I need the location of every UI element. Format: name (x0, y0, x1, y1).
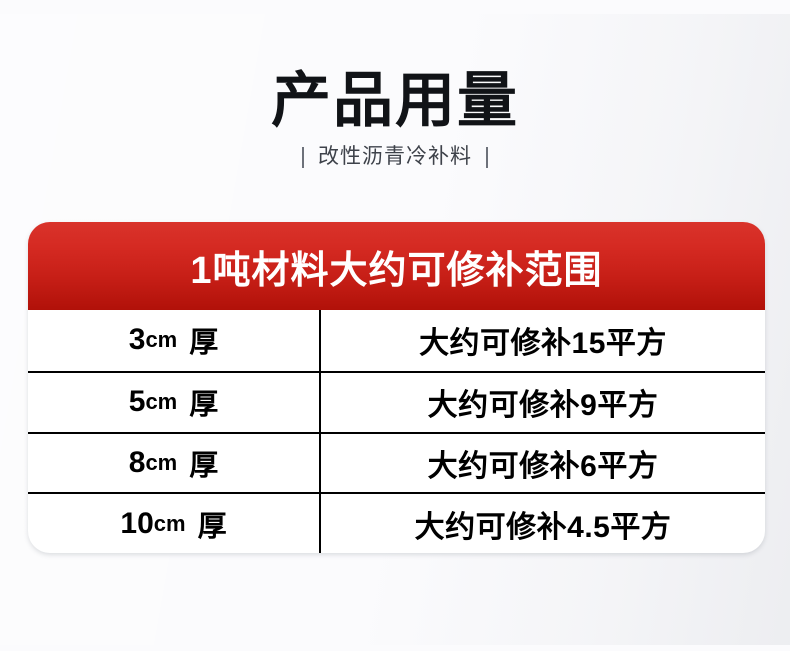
coverage-text: 大约可修补4.5平方 (415, 502, 672, 546)
thickness-value: 3 (129, 323, 146, 357)
table-cell-thickness: 5cm厚 (28, 373, 321, 432)
table-row: 3cm厚 大约可修补15平方 (28, 310, 765, 371)
usage-table-card: 1吨材料大约可修补范围 3cm厚 大约可修补15平方 5cm厚 大约可修补9平方 (28, 222, 765, 553)
subtitle-text: 改性沥青冷补料 (318, 145, 472, 169)
page-title: 产品用量 (0, 66, 790, 136)
thickness-value: 5 (129, 385, 146, 419)
usage-table-banner: 1吨材料大约可修补范围 (28, 222, 765, 310)
table-cell-coverage: 大约可修补4.5平方 (321, 494, 765, 553)
subtitle-right-bar-icon (486, 147, 488, 168)
coverage-text: 大约可修补15平方 (419, 318, 667, 362)
thickness-unit: cm (145, 327, 177, 353)
usage-table-banner-title: 1吨材料大约可修补范围 (190, 239, 602, 294)
coverage-text: 大约可修补6平方 (428, 441, 659, 485)
table-cell-thickness: 8cm厚 (28, 434, 321, 493)
table-cell-thickness: 3cm厚 (28, 310, 321, 371)
thickness-word: 厚 (189, 381, 218, 423)
table-cell-coverage: 大约可修补9平方 (321, 373, 765, 432)
thickness-unit: cm (145, 450, 177, 476)
table-row: 8cm厚 大约可修补6平方 (28, 432, 765, 493)
thickness-unit: cm (154, 511, 186, 537)
coverage-text: 大约可修补9平方 (428, 380, 659, 424)
subtitle-row: 改性沥青冷补料 (0, 145, 790, 169)
usage-table-body: 3cm厚 大约可修补15平方 5cm厚 大约可修补9平方 8cm厚 (28, 310, 765, 553)
thickness-word: 厚 (198, 503, 227, 545)
thickness-word: 厚 (189, 442, 218, 484)
table-cell-thickness: 10cm厚 (28, 494, 321, 553)
thickness-unit: cm (145, 389, 177, 415)
thickness-word: 厚 (189, 319, 218, 361)
product-usage-infographic: 产品用量 改性沥青冷补料 1吨材料大约可修补范围 3cm厚 大约可修补15平方 … (0, 0, 790, 651)
table-cell-coverage: 大约可修补15平方 (321, 310, 765, 371)
heading-block: 产品用量 改性沥青冷补料 (0, 66, 790, 169)
table-cell-coverage: 大约可修补6平方 (321, 434, 765, 493)
thickness-value: 10 (120, 507, 153, 541)
table-row: 5cm厚 大约可修补9平方 (28, 371, 765, 432)
subtitle-left-bar-icon (302, 147, 304, 168)
thickness-value: 8 (129, 446, 146, 480)
table-row: 10cm厚 大约可修补4.5平方 (28, 492, 765, 553)
